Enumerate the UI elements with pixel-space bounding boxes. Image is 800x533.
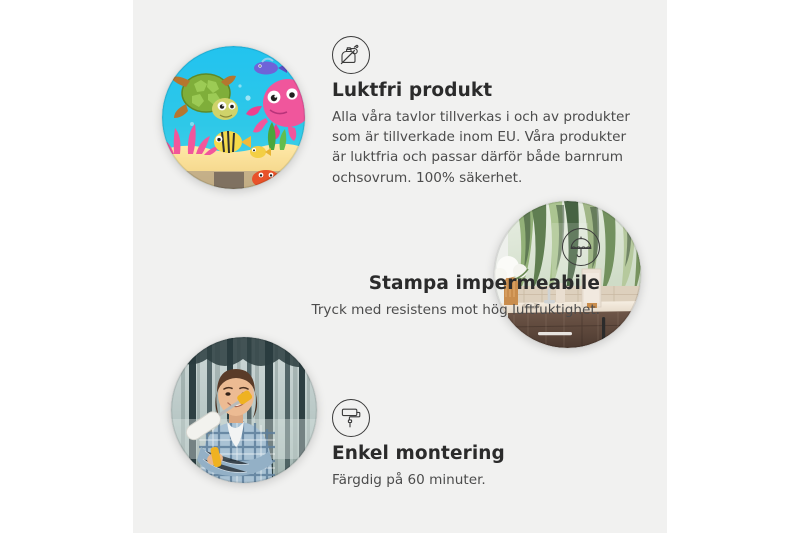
- feature-image-installer: [171, 337, 317, 483]
- feature-image-underwater: [162, 46, 305, 189]
- paint-roller-icon: [332, 399, 370, 437]
- feature-title: Enkel montering: [332, 443, 632, 465]
- feature-description: Färgdig på 60 minuter.: [332, 470, 632, 490]
- feature-easy-install: Enkel montering Färgdig på 60 minuter.: [332, 399, 632, 490]
- feature-odourless: Luktfri produkt Alla våra tavlor tillver…: [332, 36, 644, 188]
- feature-description: Alla våra tavlor tillverkas i och av pro…: [332, 107, 644, 187]
- umbrella-icon: [562, 228, 600, 266]
- feature-waterproof: Stampa impermeabile Tryck med resistens …: [193, 228, 600, 320]
- feature-title: Stampa impermeabile: [193, 273, 600, 295]
- feature-panel: Luktfri produkt Alla våra tavlor tillver…: [133, 0, 667, 533]
- feature-description: Tryck med resistens mot hög luftfuktighe…: [193, 300, 600, 320]
- feature-title: Luktfri produkt: [332, 80, 644, 102]
- no-odour-perfume-bottle-icon: [332, 36, 370, 74]
- product-feature-infographic: Luktfri produkt Alla våra tavlor tillver…: [0, 0, 800, 533]
